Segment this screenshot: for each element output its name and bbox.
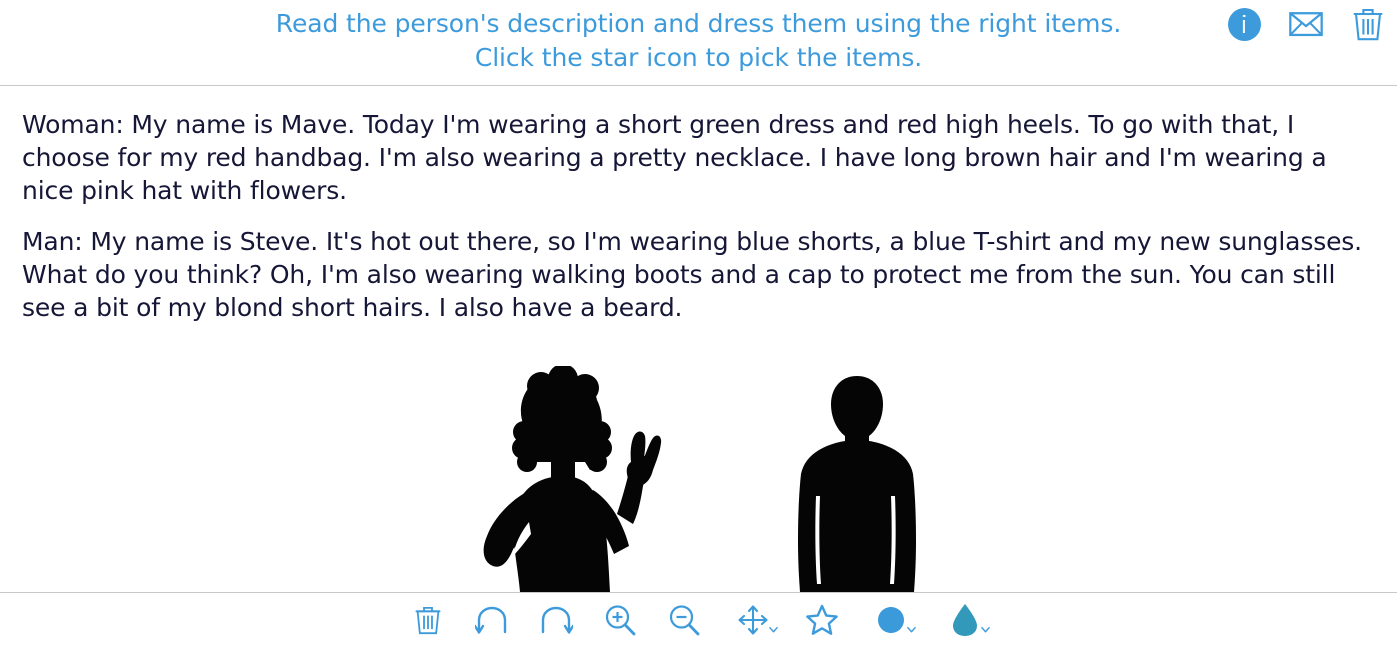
info-icon[interactable]	[1227, 7, 1261, 41]
undo-tool[interactable]	[470, 598, 514, 642]
instruction-line-1: Read the person's description and dress …	[210, 7, 1187, 41]
description-passage: Woman: My name is Mave. Today I'm wearin…	[0, 86, 1397, 324]
header-icon-group	[1227, 7, 1385, 41]
redo-tool[interactable]	[534, 598, 578, 642]
zoom-out-icon	[668, 604, 700, 636]
woman-silhouette[interactable]	[467, 366, 663, 592]
paint-tool[interactable]	[938, 598, 992, 642]
instruction-text: Read the person's description and dress …	[0, 7, 1397, 75]
redo-icon	[539, 605, 573, 635]
fill-color-tool[interactable]	[864, 598, 918, 642]
envelope-icon-glyph	[1289, 10, 1323, 38]
envelope-icon[interactable]	[1289, 7, 1323, 41]
zoom-in-icon	[604, 604, 636, 636]
chevron-down-icon	[981, 625, 990, 634]
circle-fill-icon	[877, 606, 905, 634]
delete-tool[interactable]	[406, 598, 450, 642]
move-icon	[738, 605, 768, 635]
figure-canvas	[0, 352, 1397, 592]
instruction-line-2: Click the star icon to pick the items.	[210, 41, 1187, 75]
trash-icon-glyph	[1353, 7, 1383, 41]
woman-description: Woman: My name is Mave. Today I'm wearin…	[22, 108, 1377, 207]
dress-the-person-app: Read the person's description and dress …	[0, 0, 1397, 646]
trash-icon[interactable]	[1351, 7, 1385, 41]
star-tool[interactable]	[800, 598, 844, 642]
water-drop-icon	[952, 603, 978, 637]
chevron-down-icon	[769, 625, 778, 634]
info-icon-glyph	[1228, 8, 1261, 41]
zoom-out-tool[interactable]	[662, 598, 706, 642]
man-silhouette[interactable]	[783, 370, 931, 592]
header-bar: Read the person's description and dress …	[0, 0, 1397, 86]
bottom-toolbar	[0, 592, 1397, 646]
content-area: Woman: My name is Mave. Today I'm wearin…	[0, 86, 1397, 592]
star-icon	[806, 604, 838, 635]
chevron-down-icon	[907, 625, 916, 634]
move-tool[interactable]	[726, 598, 780, 642]
undo-icon	[475, 605, 509, 635]
man-description: Man: My name is Steve. It's hot out ther…	[22, 225, 1377, 324]
trash-icon	[415, 605, 441, 635]
zoom-in-tool[interactable]	[598, 598, 642, 642]
